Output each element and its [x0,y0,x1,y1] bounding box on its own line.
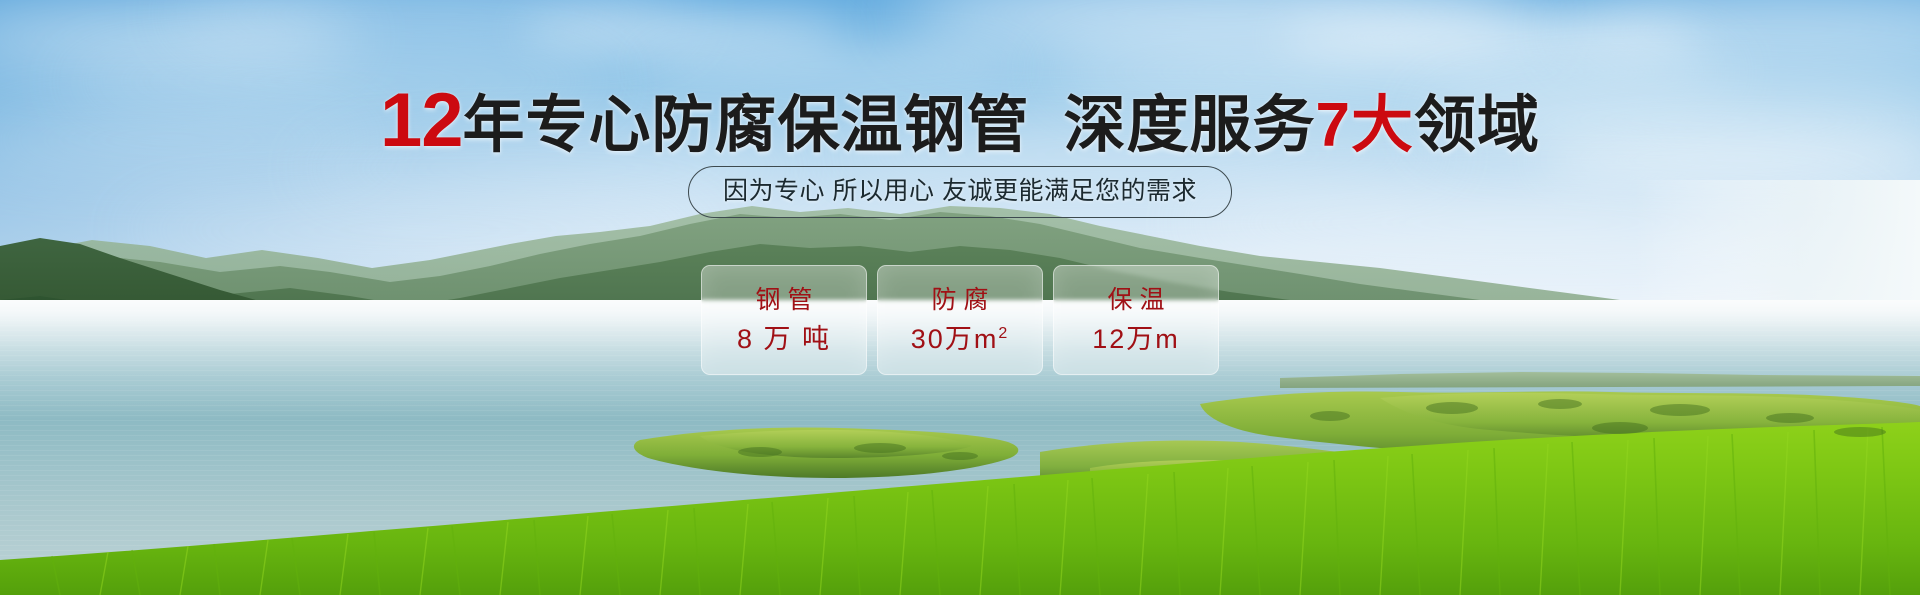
stat-card-title: 防腐 [924,288,995,313]
headline-highlight: 7大 [1316,91,1414,160]
subtitle-pill: 因为专心 所以用心 友诚更能满足您的需求 [688,166,1232,218]
stat-card-value: 8 万 吨 [737,326,831,353]
headline-part-one: 年专心防腐保温钢管 [463,91,1030,160]
stat-card-value-exponent: 2 [998,325,1009,342]
stat-card-title: 钢管 [748,288,819,313]
subtitle-container: 因为专心 所以用心 友诚更能满足您的需求 [0,166,1920,218]
hero-banner: 12年专心防腐保温钢管深度服务7大领域 因为专心 所以用心 友诚更能满足您的需求… [0,0,1920,595]
stat-card-steel-pipe[interactable]: 钢管 8 万 吨 [701,265,867,375]
stat-card-value: 30万m2 [911,326,1009,353]
headline-number: 12 [380,78,463,163]
page-title: 12年专心防腐保温钢管深度服务7大领域 [0,83,1920,159]
headline-part-two: 深度服务 [1064,91,1316,160]
stat-card-title: 保温 [1100,288,1171,313]
stat-card-anticorrosion[interactable]: 防腐 30万m2 [877,265,1043,375]
stat-cards: 钢管 8 万 吨 防腐 30万m2 保温 12万m [0,265,1920,375]
stat-card-value: 12万m [1092,326,1180,353]
headline-part-tail: 领域 [1414,91,1540,160]
stat-card-insulation[interactable]: 保温 12万m [1053,265,1219,375]
